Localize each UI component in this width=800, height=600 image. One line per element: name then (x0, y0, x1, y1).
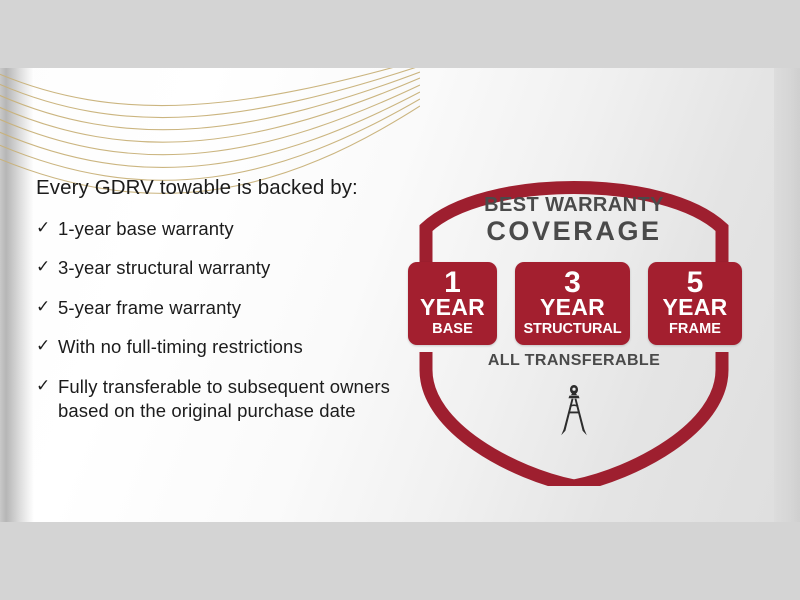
compass-divider-icon (554, 384, 594, 436)
tile-label: FRAME (652, 321, 738, 338)
list-item: ✓ 1-year base warranty (36, 217, 426, 241)
list-item: ✓ 3-year structural warranty (36, 256, 426, 280)
page-edge-shadow-left (0, 68, 34, 522)
tile-label: BASE (412, 321, 493, 338)
list-item-label: 5-year frame warranty (58, 296, 241, 320)
check-icon: ✓ (36, 217, 58, 239)
list-item-label: With no full-timing restrictions (58, 335, 303, 359)
screenshot-canvas: Every GDRV towable is backed by: ✓ 1-yea… (0, 0, 800, 600)
page-title: Every GDRV towable is backed by: (36, 176, 426, 200)
list-item-label: Fully transferable to subsequent owners … (58, 375, 426, 424)
warranty-shield-badge: BEST WARRANTY COVERAGE 1 YEAR BASE 3 YEA… (404, 156, 744, 486)
coverage-tile-structural: 3 YEAR STRUCTURAL (515, 262, 630, 345)
check-icon: ✓ (36, 296, 58, 318)
coverage-tile-frame: 5 YEAR FRAME (648, 262, 742, 345)
list-item-label: 3-year structural warranty (58, 256, 270, 280)
check-icon: ✓ (36, 375, 58, 397)
tile-number: 3 (519, 268, 626, 297)
warranty-copy: Every GDRV towable is backed by: ✓ 1-yea… (36, 176, 426, 438)
tile-number: 5 (652, 268, 738, 297)
list-item: ✓ Fully transferable to subsequent owner… (36, 375, 426, 424)
list-item-label: 1-year base warranty (58, 217, 234, 241)
check-icon: ✓ (36, 256, 58, 278)
tile-label: STRUCTURAL (519, 321, 626, 338)
tile-number: 1 (412, 268, 493, 297)
warranty-slide: Every GDRV towable is backed by: ✓ 1-yea… (0, 68, 800, 522)
tile-unit: YEAR (652, 296, 738, 319)
coverage-tiles: 1 YEAR BASE 3 YEAR STRUCTURAL 5 YEAR FRA… (408, 262, 742, 345)
page-edge-shadow-right (774, 68, 800, 522)
check-icon: ✓ (36, 335, 58, 357)
tile-unit: YEAR (519, 296, 626, 319)
list-item: ✓ With no full-timing restrictions (36, 335, 426, 359)
campers-inn-rv-logo: campers innRV® (648, 520, 778, 522)
coverage-tile-base: 1 YEAR BASE (408, 262, 497, 345)
list-item: ✓ 5-year frame warranty (36, 296, 426, 320)
tile-unit: YEAR (412, 296, 493, 319)
